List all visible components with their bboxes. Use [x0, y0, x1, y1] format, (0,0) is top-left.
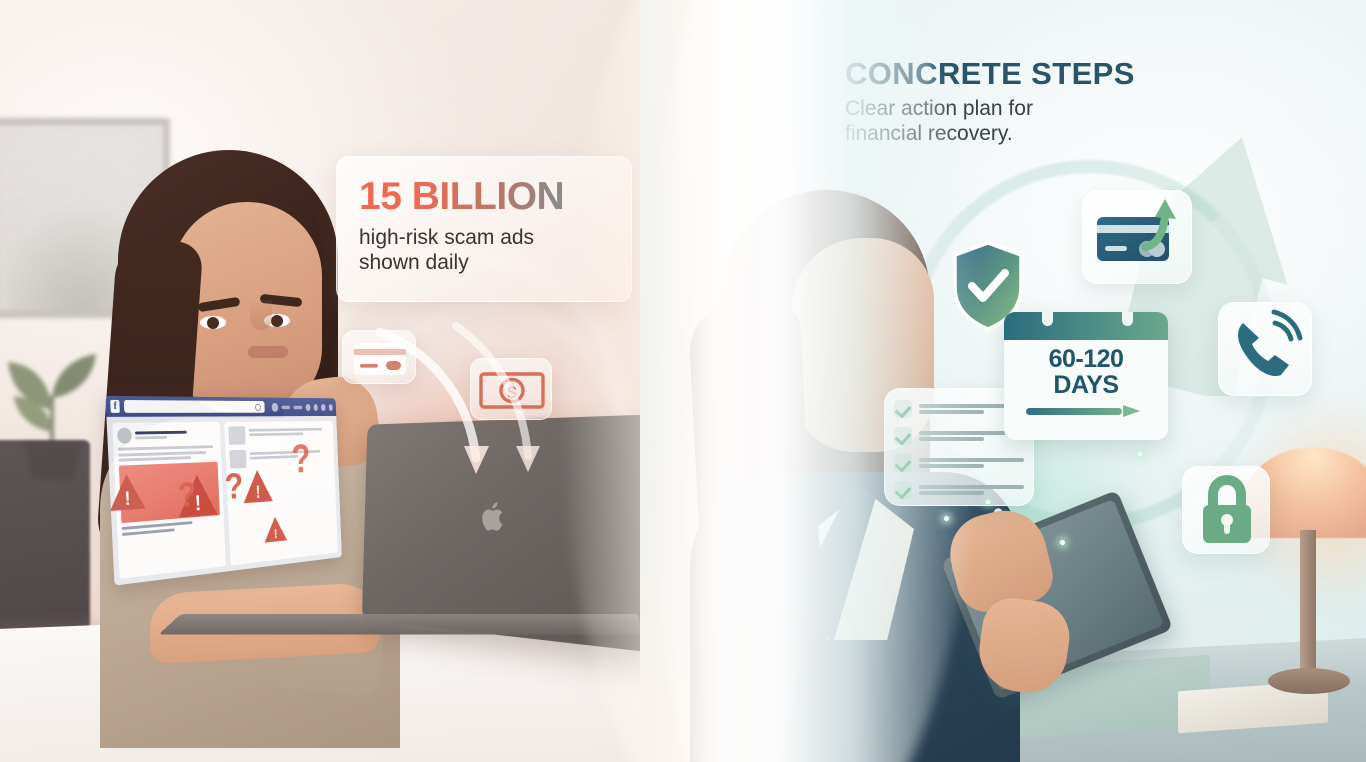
stat-subtitle-line1: high-risk scam ads — [359, 226, 609, 251]
calendar-header — [1004, 312, 1168, 340]
table-lamp-stem — [1300, 530, 1316, 680]
svg-text:!: ! — [274, 527, 278, 542]
curved-arrow-down-icon — [360, 316, 590, 486]
checkmark-icon — [894, 400, 912, 418]
illustration-canvas: f — [0, 0, 1366, 762]
checklist-item[interactable] — [894, 454, 1024, 472]
svg-text:!: ! — [255, 483, 260, 502]
browser-top-bar: f — [105, 396, 336, 417]
question-mark-icon: ? — [224, 466, 244, 508]
sparkle-decor — [1138, 452, 1142, 456]
feed-area: ! ! ! ! ? ? ? — [106, 416, 341, 586]
heading-subtitle-line1: Clear action plan for — [845, 96, 1265, 121]
checklist-item[interactable] — [894, 481, 1024, 499]
messenger-icon[interactable] — [313, 404, 318, 411]
svg-text:!: ! — [124, 488, 131, 509]
calendar-unit: DAYS — [1012, 373, 1160, 399]
timeline-calendar-card: 60-120 DAYS — [1004, 312, 1168, 440]
friends-icon[interactable] — [306, 404, 311, 411]
calendar-range: 60-120 — [1012, 347, 1160, 373]
table-lamp-base — [1268, 668, 1350, 694]
left-problem-panel: f — [0, 0, 700, 762]
calendar-ring-icon — [1122, 312, 1133, 326]
warning-triangle-icon: ! — [107, 471, 146, 513]
padlock-icon — [1182, 466, 1270, 554]
apple-logo-icon — [480, 499, 508, 534]
credit-card-recovery-icon — [1082, 190, 1192, 284]
checkmark-icon — [894, 454, 912, 472]
warning-triangle-icon: ! — [241, 468, 273, 506]
stat-number: 15 BILLION — [359, 177, 609, 216]
checkmark-icon — [894, 427, 912, 445]
nav-pill-1[interactable] — [281, 405, 290, 409]
sparkle-decor — [944, 516, 949, 521]
warning-triangle-icon: ! — [263, 514, 288, 544]
laptop-screen: f — [105, 396, 341, 586]
calendar-body: 60-120 DAYS — [1004, 340, 1168, 425]
sparkle-decor — [986, 500, 990, 504]
account-chevron-icon[interactable] — [328, 404, 332, 411]
avatar[interactable] — [272, 403, 278, 412]
heading-subtitle-line2: financial recovery. — [845, 121, 1265, 146]
post-avatar — [117, 428, 132, 444]
question-mark-icon: ? — [290, 435, 311, 482]
phone-call-icon — [1218, 302, 1312, 396]
sparkle-decor — [1060, 540, 1065, 545]
right-heading-block: CONCRETE STEPS Clear action plan for fin… — [845, 56, 1265, 146]
progress-arrow-right-icon — [1026, 405, 1146, 417]
notifications-icon[interactable] — [321, 404, 325, 411]
calendar-ring-icon — [1042, 312, 1053, 326]
laptop-base — [158, 614, 641, 635]
stat-card: 15 BILLION high-risk scam ads shown dail… — [336, 156, 632, 302]
checkmark-icon — [894, 481, 912, 499]
nav-pill-2[interactable] — [294, 405, 303, 408]
stat-subtitle-line2: shown daily — [359, 251, 609, 276]
page-title: CONCRETE STEPS — [845, 56, 1265, 92]
question-mark-icon: ? — [177, 475, 197, 516]
facebook-logo-icon: f — [110, 400, 120, 413]
search-input[interactable] — [124, 400, 265, 413]
